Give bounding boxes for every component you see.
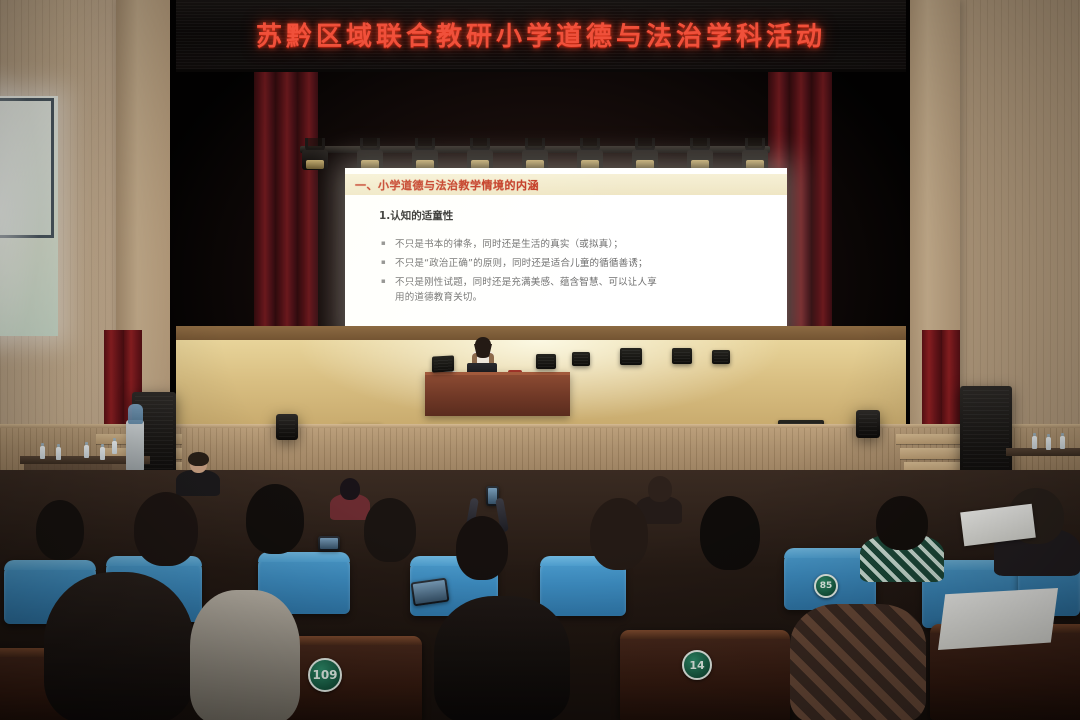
phone-camera[interactable] (318, 536, 340, 551)
slide-heading-band: 一、小学道德与法治教学情境的内涵 (345, 174, 787, 195)
attendee (352, 498, 428, 570)
attendee (444, 516, 520, 588)
slide-bullet: 不只是刚性试题，同时还是充满美感、蕴含智慧、可以让人享 (379, 275, 773, 290)
handout-paper (938, 588, 1058, 650)
stage-monitor (620, 348, 642, 365)
seat-number-badge: 85 (814, 574, 838, 598)
flower-vase (112, 441, 117, 454)
water-cooler (126, 420, 144, 472)
stage-monitor (712, 350, 730, 364)
cup (1060, 436, 1065, 449)
slide-bullet-continuation: 用的道德教育关切。 (379, 290, 773, 305)
attendee (576, 498, 662, 580)
stage-stair (896, 434, 970, 444)
window-glow (0, 60, 40, 360)
attendee-foreground (190, 590, 300, 720)
stage-side-speaker-left (276, 414, 298, 440)
attendee-patterned-top (860, 496, 944, 582)
attendee-foreground (44, 572, 194, 720)
stage-monitor (432, 355, 454, 372)
cup (84, 445, 89, 458)
slide-bullet: 不只是“政治正确”的原则，同时还是适合儿童的循循善诱； (379, 256, 773, 271)
stage-monitor (536, 354, 556, 369)
cup (100, 447, 105, 460)
stage-monitor (572, 352, 590, 366)
attendee (118, 492, 214, 578)
cup (40, 446, 45, 459)
seat[interactable]: 14 (620, 630, 790, 720)
event-banner: 苏黔区域联合教研小学道德与法治学科活动 (176, 0, 906, 72)
slide-heading: 一、小学道德与法治教学情境的内涵 (345, 177, 539, 193)
seat-number-badge: 109 (308, 658, 342, 692)
attendee (24, 500, 96, 572)
attendee (686, 496, 774, 578)
attendee-foreground (790, 604, 926, 720)
cup (1032, 436, 1037, 449)
presenter-hair (475, 337, 491, 352)
seat-number-badge: 14 (682, 650, 712, 680)
phone-camera[interactable] (411, 578, 450, 607)
stage-side-speaker-right (856, 410, 880, 438)
right-side-table (1006, 448, 1080, 456)
cup (1046, 437, 1051, 450)
event-banner-text: 苏黔区域联合教研小学道德与法治学科活动 (256, 16, 826, 53)
slide-bullet: 不只是书本的律条，同时还是生活的真实（或拟真）； (379, 237, 773, 252)
lecture-table (425, 372, 570, 416)
slide-bullet-list: 不只是书本的律条，同时还是生活的真实（或拟真）； 不只是“政治正确”的原则，同时… (379, 237, 773, 305)
slide-body: 1.认知的适童性 不只是书本的律条，同时还是生活的真实（或拟真）； 不只是“政治… (379, 208, 773, 309)
stage-monitor (672, 348, 692, 364)
projection-screen: 一、小学道德与法治教学情境的内涵 1.认知的适童性 不只是书本的律条，同时还是生… (345, 168, 787, 340)
cup (56, 447, 61, 460)
auditorium-scene: 苏黔区域联合教研小学道德与法治学科活动 一、小学道德与法治教学情境的内涵 1.认… (0, 0, 1080, 720)
attendee-far-left (176, 452, 220, 494)
slide-subheading: 1.认知的适童性 (379, 208, 773, 223)
stage-light-icon (300, 138, 330, 178)
attendee-foreground (434, 596, 570, 720)
attendee (232, 484, 318, 564)
water-cooler-jug (128, 404, 143, 424)
